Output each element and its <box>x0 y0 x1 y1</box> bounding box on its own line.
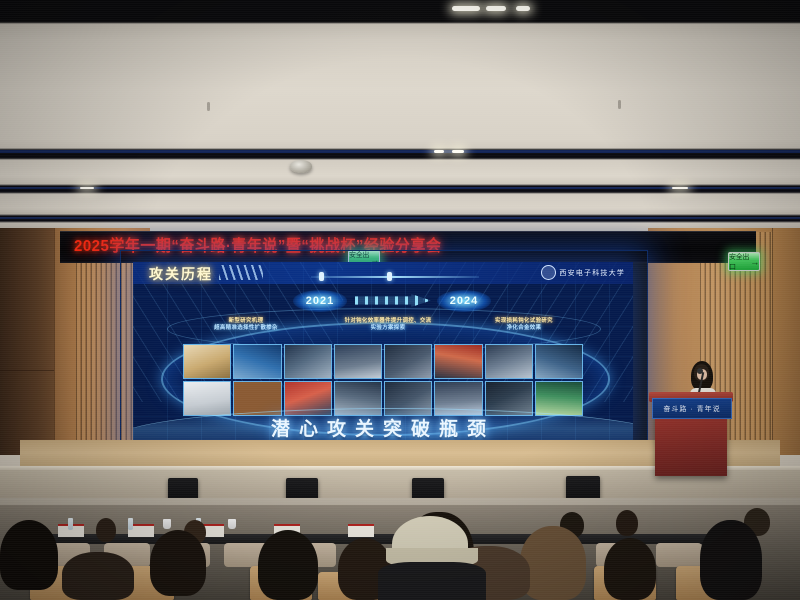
exit-arrow-icon-right: → <box>750 257 759 267</box>
timeline-knob-2 <box>387 272 392 281</box>
slide-title: 攻关历程 <box>149 264 213 284</box>
caption-3-line-2: 净化合金效果 <box>465 325 583 332</box>
exit-sign-label-right: 安全出口 <box>729 252 749 271</box>
university-logo: 西安电子科技大学 <box>541 265 625 280</box>
timeline-rail <box>311 276 479 278</box>
auditorium-photo: 2025学年一期“奋斗路·青年说”暨“挑战杯”经验分享会 安全出口 → 安全出口… <box>0 0 800 600</box>
photo-thumb <box>535 381 583 416</box>
paper-cup <box>228 519 236 529</box>
timeline-arrow-icon <box>355 294 431 307</box>
timeline-knob-1 <box>319 272 324 281</box>
slide-caption-1: 新型研究机理 超高精准选择性扩散掺杂 <box>191 318 301 332</box>
photo-thumb <box>485 344 533 379</box>
audience-head <box>96 518 116 542</box>
smoke-detector-icon <box>290 160 312 173</box>
caption-1-line-2: 超高精准选择性扩散掺杂 <box>191 325 301 332</box>
ceiling-fixture-1 <box>207 102 210 111</box>
university-seal-icon <box>541 265 556 280</box>
audience-head <box>0 520 58 590</box>
water-bottle <box>128 518 133 530</box>
water-bottle <box>68 518 73 530</box>
caption-1-line-1: 新型研究机理 <box>191 318 301 325</box>
photo-thumb <box>233 344 281 379</box>
audience-head <box>520 526 586 600</box>
audience-head <box>616 510 638 536</box>
audience-head <box>62 552 134 600</box>
slide-caption-3: 实现损耗钝化试验研究 净化合金效果 <box>465 318 583 332</box>
caption-2-line-2: 实验方案探索 <box>327 325 449 332</box>
seat-back <box>656 543 702 567</box>
paper-cup <box>163 519 171 529</box>
timeline-year-start: 2021 <box>293 290 347 312</box>
photo-thumb <box>434 344 482 379</box>
photo-thumb <box>284 344 332 379</box>
ceiling <box>0 0 800 232</box>
exit-sign-icon-right: 安全出口 → <box>728 252 760 271</box>
slide-headline: 潜心攻关突破瓶颈 <box>133 414 633 441</box>
caption-3-line-1: 实现损耗钝化试验研究 <box>465 318 583 325</box>
ceiling-slot-1 <box>0 150 800 153</box>
photo-thumb <box>535 344 583 379</box>
timeline-year-end: 2024 <box>437 290 491 312</box>
ceiling-light-6 <box>80 187 94 189</box>
microphone-icon <box>697 368 703 374</box>
photo-thumb <box>334 344 382 379</box>
ceiling-fixture-2 <box>618 100 621 109</box>
audience-head <box>150 530 206 596</box>
podium-sign: 奋斗路 · 青年说 <box>652 398 732 419</box>
photo-thumb <box>183 344 231 379</box>
audience-shoulders <box>378 562 486 600</box>
slide-caption-2: 针对钝化效率器件提升调控、交流 实验方案探索 <box>327 318 449 332</box>
ceiling-light-2 <box>486 6 506 11</box>
photo-thumb <box>183 381 231 416</box>
slide-header-stripes <box>219 265 263 280</box>
ceiling-slot-3 <box>0 217 800 219</box>
slide-photo-grid <box>183 344 583 416</box>
ceiling-light-3 <box>516 6 530 11</box>
audience-head <box>258 530 318 600</box>
audience-head <box>604 538 656 600</box>
university-name: 西安电子科技大学 <box>559 268 625 278</box>
ticker-text: 2025学年一期“奋斗路·青年说”暨“挑战杯”经验分享会 <box>74 233 754 259</box>
ceiling-light-5 <box>452 150 464 153</box>
ceiling-light-4 <box>434 150 444 153</box>
ceiling-light-7 <box>672 187 688 189</box>
audience-head <box>700 520 762 600</box>
slide-timeline: 2021 2024 <box>293 288 493 314</box>
led-presentation-screen: 攻关历程 西安电子科技大学 2021 2024 新型研究机理 超高精准选择性扩散… <box>133 262 633 447</box>
caption-2-line-1: 针对钝化效率器件提升调控、交流 <box>327 318 449 325</box>
left-wall-seam-h <box>0 370 54 371</box>
ceiling-light-1 <box>452 6 480 11</box>
led-ticker-banner: 2025学年一期“奋斗路·青年说”暨“挑战杯”经验分享会 <box>60 231 756 263</box>
photo-thumb <box>384 344 432 379</box>
name-card <box>348 524 374 537</box>
